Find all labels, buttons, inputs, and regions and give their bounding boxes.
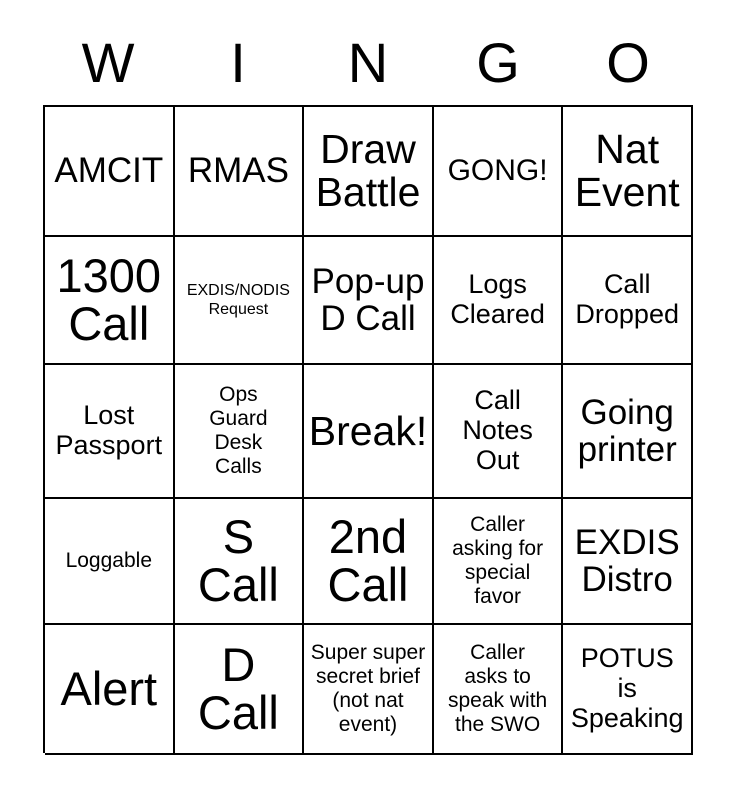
bingo-grid: AMCIT RMAS Draw Battle GONG! Nat Event 1…: [43, 105, 693, 753]
bingo-cell[interactable]: Call Dropped: [563, 237, 693, 365]
bingo-cell-text: 2nd Call: [307, 513, 429, 610]
bingo-cell[interactable]: GONG!: [434, 107, 564, 237]
bingo-cell[interactable]: Ops Guard Desk Calls: [175, 365, 305, 499]
bingo-cell-text: Loggable: [48, 549, 170, 573]
header-letter-i: I: [173, 20, 303, 105]
bingo-cell-text: Call Notes Out: [437, 386, 559, 475]
bingo-cell-text: AMCIT: [48, 152, 170, 189]
header-letter-w-text: W: [82, 35, 135, 91]
bingo-cell-text: Caller asks to speak with the SWO: [437, 641, 559, 737]
bingo-cell[interactable]: Loggable: [45, 499, 175, 625]
bingo-cell[interactable]: POTUS is Speaking: [563, 625, 693, 755]
bingo-cell[interactable]: Pop-up D Call: [304, 237, 434, 365]
header-letter-n: N: [303, 20, 433, 105]
header-letter-w: W: [43, 20, 173, 105]
bingo-cell[interactable]: Logs Cleared: [434, 237, 564, 365]
header-letter-o: O: [563, 20, 693, 105]
bingo-cell-text: Logs Cleared: [437, 270, 559, 329]
header-letter-n-text: N: [348, 35, 388, 91]
bingo-card: W I N G O AMCIT RMAS Draw Battle GONG! N…: [0, 0, 736, 800]
bingo-cell-text: Super super secret brief (not nat event): [307, 641, 429, 737]
bingo-cell[interactable]: Caller asking for special favor: [434, 499, 564, 625]
bingo-cell[interactable]: Nat Event: [563, 107, 693, 237]
bingo-cell-text: S Call: [178, 513, 300, 610]
bingo-cell[interactable]: Caller asks to speak with the SWO: [434, 625, 564, 755]
bingo-cell-text: Pop-up D Call: [307, 263, 429, 337]
header-letter-g-text: G: [476, 35, 520, 91]
bingo-cell-text: Going printer: [566, 394, 688, 468]
bingo-cell-text: Caller asking for special favor: [437, 513, 559, 609]
bingo-cell[interactable]: 2nd Call: [304, 499, 434, 625]
bingo-cell[interactable]: EXDIS/NODIS Request: [175, 237, 305, 365]
bingo-cell-text: Nat Event: [566, 128, 688, 213]
bingo-cell[interactable]: EXDIS Distro: [563, 499, 693, 625]
bingo-cell[interactable]: Draw Battle: [304, 107, 434, 237]
bingo-cell-text: 1300 Call: [48, 252, 170, 349]
bingo-cell-text: Draw Battle: [307, 128, 429, 213]
bingo-cell-text: Lost Passport: [48, 401, 170, 460]
bingo-cell[interactable]: AMCIT: [45, 107, 175, 237]
header-letter-i-text: I: [230, 35, 246, 91]
bingo-cell-text: RMAS: [178, 152, 300, 189]
bingo-cell[interactable]: 1300 Call: [45, 237, 175, 365]
bingo-cell-text: GONG!: [437, 155, 559, 187]
bingo-cell-text: EXDIS/NODIS Request: [178, 281, 300, 319]
bingo-cell[interactable]: S Call: [175, 499, 305, 625]
bingo-cell-text: POTUS is Speaking: [566, 644, 688, 733]
bingo-cell-text: Ops Guard Desk Calls: [178, 383, 300, 479]
bingo-cell[interactable]: D Call: [175, 625, 305, 755]
bingo-cell[interactable]: Going printer: [563, 365, 693, 499]
header-letter-o-text: O: [606, 35, 650, 91]
bingo-cell[interactable]: Call Notes Out: [434, 365, 564, 499]
bingo-header-row: W I N G O: [43, 20, 693, 105]
bingo-cell[interactable]: Alert: [45, 625, 175, 755]
bingo-cell-text: Alert: [48, 665, 170, 713]
bingo-cell-text: EXDIS Distro: [566, 524, 688, 598]
bingo-cell-text: D Call: [178, 641, 300, 738]
header-letter-g: G: [433, 20, 563, 105]
bingo-cell[interactable]: RMAS: [175, 107, 305, 237]
bingo-cell-text: Call Dropped: [566, 270, 688, 329]
bingo-cell-text: Break!: [307, 410, 429, 453]
bingo-cell[interactable]: Super super secret brief (not nat event): [304, 625, 434, 755]
bingo-cell[interactable]: Lost Passport: [45, 365, 175, 499]
bingo-cell[interactable]: Break!: [304, 365, 434, 499]
